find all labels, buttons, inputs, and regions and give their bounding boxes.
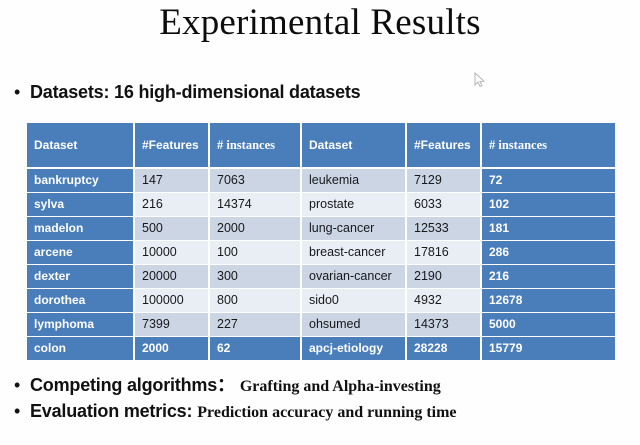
cell-features-left: 20000 [134, 264, 209, 288]
bullet-dot-icon: • [14, 83, 30, 101]
bullet-competing-value: Grafting and Alpha-investing [235, 378, 441, 396]
table-header-row: Dataset #Features # instances Dataset #F… [27, 123, 615, 168]
cell-instances-right: 216 [481, 264, 615, 288]
cell-instances-left: 100 [209, 240, 301, 264]
cell-dataset-name-right: ovarian-cancer [301, 264, 406, 288]
page-title: Experimental Results [0, 2, 640, 45]
cell-features-right: 14373 [406, 312, 481, 336]
bullet-datasets: • Datasets: 16 high-dimensional datasets [14, 82, 361, 103]
cell-instances-right: 72 [481, 168, 615, 192]
cell-dataset-name-left: arcene [27, 240, 134, 264]
cell-features-right: 28228 [406, 336, 481, 360]
cell-dataset-name-left: sylva [27, 192, 134, 216]
cell-dataset-name-left: bankruptcy [27, 168, 134, 192]
bullet-competing-label: Competing algorithms： [30, 371, 235, 397]
table-row: madelon5002000lung-cancer12533181 [27, 216, 615, 240]
table-row: arcene10000100breast-cancer17816286 [27, 240, 615, 264]
cell-instances-left: 227 [209, 312, 301, 336]
table-row: dorothea100000800sido0493212678 [27, 288, 615, 312]
cell-features-left: 7399 [134, 312, 209, 336]
cell-instances-right: 15779 [481, 336, 615, 360]
cell-instances-right: 12678 [481, 288, 615, 312]
slide-canvas: Experimental Results • Datasets: 16 high… [0, 0, 640, 445]
column-header-features-left: #Features [134, 123, 209, 168]
cell-dataset-name-left: colon [27, 336, 134, 360]
bullet-datasets-label: Datasets: 16 high-dimensional datasets [30, 82, 361, 103]
column-header-instances-right: # instances [481, 123, 615, 168]
table-row: dexter20000300ovarian-cancer2190216 [27, 264, 615, 288]
cell-features-left: 100000 [134, 288, 209, 312]
bullet-dot-icon: • [14, 402, 30, 420]
column-header-features-right: #Features [406, 123, 481, 168]
column-header-dataset-right: Dataset [301, 123, 406, 168]
cell-dataset-name-right: prostate [301, 192, 406, 216]
cell-instances-left: 2000 [209, 216, 301, 240]
cell-dataset-name-right: ohsumed [301, 312, 406, 336]
cell-instances-left: 14374 [209, 192, 301, 216]
cell-features-left: 147 [134, 168, 209, 192]
cell-instances-left: 7063 [209, 168, 301, 192]
cell-dataset-name-left: dorothea [27, 288, 134, 312]
cell-instances-right: 286 [481, 240, 615, 264]
cell-dataset-name-left: madelon [27, 216, 134, 240]
bullet-evaluation-label: Evaluation metrics: [30, 401, 192, 422]
bullet-dot-icon: • [14, 376, 30, 394]
cell-dataset-name-right: lung-cancer [301, 216, 406, 240]
table-row: lymphoma7399227ohsumed143735000 [27, 312, 615, 336]
table-header: Dataset #Features # instances Dataset #F… [27, 123, 615, 168]
column-header-instances-left: # instances [209, 123, 301, 168]
datasets-table: Dataset #Features # instances Dataset #F… [27, 123, 615, 361]
cell-dataset-name-right: breast-cancer [301, 240, 406, 264]
mouse-pointer-icon [474, 72, 486, 88]
cell-features-left: 2000 [134, 336, 209, 360]
cell-instances-left: 800 [209, 288, 301, 312]
cell-instances-left: 62 [209, 336, 301, 360]
cell-dataset-name-right: apcj-etiology [301, 336, 406, 360]
cell-features-right: 17816 [406, 240, 481, 264]
cell-features-left: 216 [134, 192, 209, 216]
table-row: sylva21614374prostate6033102 [27, 192, 615, 216]
cell-dataset-name-left: dexter [27, 264, 134, 288]
cell-features-right: 2190 [406, 264, 481, 288]
cell-features-left: 500 [134, 216, 209, 240]
cell-dataset-name-right: sido0 [301, 288, 406, 312]
cell-features-left: 10000 [134, 240, 209, 264]
cell-features-right: 7129 [406, 168, 481, 192]
cell-instances-right: 102 [481, 192, 615, 216]
bullet-competing-algorithms: • Competing algorithms： Grafting and Alp… [14, 371, 441, 397]
cell-instances-left: 300 [209, 264, 301, 288]
table-row: bankruptcy1477063leukemia712972 [27, 168, 615, 192]
cell-features-right: 6033 [406, 192, 481, 216]
cell-instances-right: 181 [481, 216, 615, 240]
bullet-evaluation-metrics: • Evaluation metrics: Prediction accurac… [14, 401, 457, 422]
cell-dataset-name-left: lymphoma [27, 312, 134, 336]
cell-features-right: 12533 [406, 216, 481, 240]
table-row: colon200062apcj-etiology2822815779 [27, 336, 615, 360]
column-header-dataset-left: Dataset [27, 123, 134, 168]
cell-instances-right: 5000 [481, 312, 615, 336]
table-body: bankruptcy1477063leukemia712972sylva2161… [27, 168, 615, 360]
cell-features-right: 4932 [406, 288, 481, 312]
bullet-evaluation-value: Prediction accuracy and running time [192, 404, 456, 422]
cell-dataset-name-right: leukemia [301, 168, 406, 192]
